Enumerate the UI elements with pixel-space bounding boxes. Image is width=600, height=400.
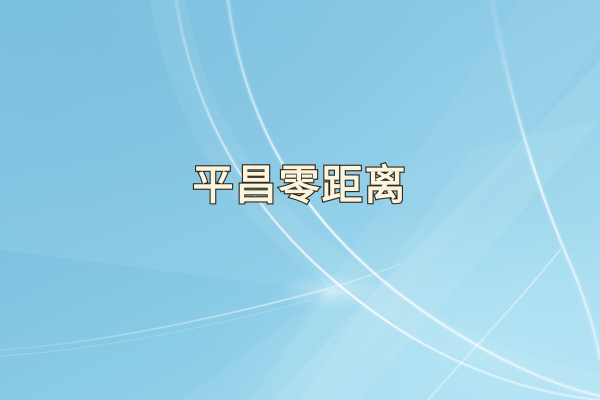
background-arcs-artwork: [0, 0, 600, 400]
banner-canvas: 平昌零距离: [0, 0, 600, 400]
arc-intersection-glow: [278, 272, 382, 312]
